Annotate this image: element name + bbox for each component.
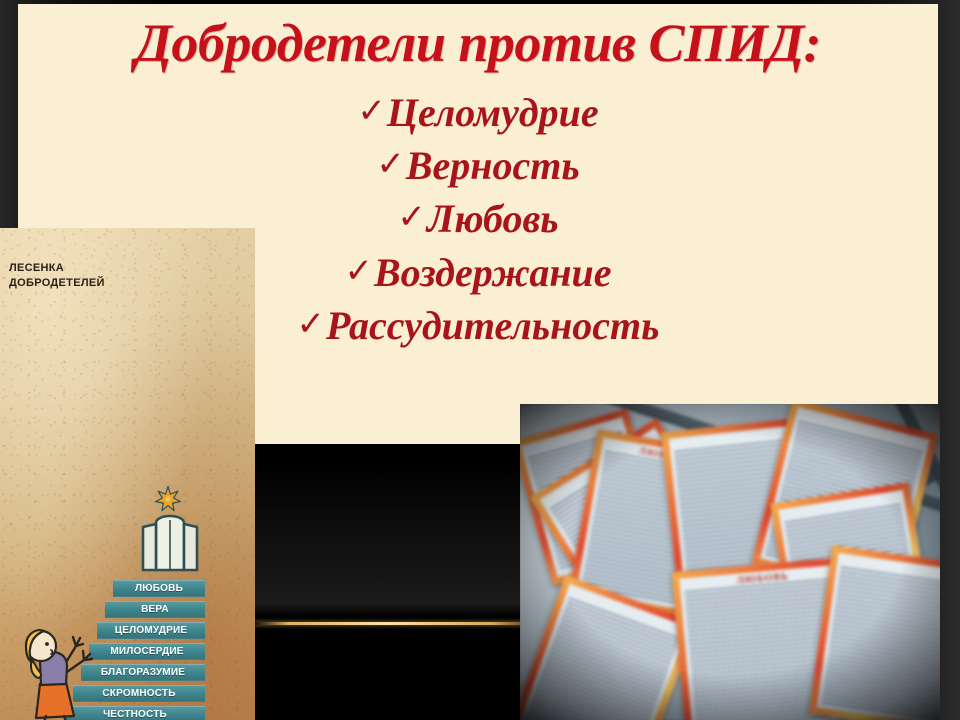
checkmark-icon: ✓ bbox=[376, 146, 405, 183]
ladder-step-label: СКРОМНОСТЬ bbox=[102, 688, 175, 699]
virtue-label: Целомудрие bbox=[387, 90, 599, 135]
list-item: ✓Целомудрие bbox=[18, 86, 938, 139]
checkmark-icon: ✓ bbox=[297, 306, 326, 343]
presentation-slide: Добродетели против СПИД: ✓Целомудрие ✓Ве… bbox=[0, 0, 960, 720]
ladder-step-label: ЛЮБОВЬ bbox=[135, 583, 183, 594]
checkmark-icon: ✓ bbox=[397, 199, 426, 236]
virtue-label: Верность bbox=[406, 143, 580, 188]
checkmark-icon: ✓ bbox=[344, 253, 373, 290]
ladder-step: ЛЮБОВЬ bbox=[113, 580, 205, 597]
virtue-label: Рассудительность bbox=[326, 303, 659, 348]
list-item: ✓Верность bbox=[18, 139, 938, 192]
checkmark-icon: ✓ bbox=[357, 93, 386, 130]
ladder-step-label: ЦЕЛОМУДРИЕ bbox=[115, 625, 187, 636]
ladder-of-virtues-poster: ЛЕСЕНКА ДОБРОДЕТЕЛЕЙ ЛЮБОВЬ ВЕРА ЦЕЛОМУД… bbox=[0, 228, 255, 720]
climbing-girl-illustration bbox=[10, 624, 98, 720]
ladder-step-label: БЛАГОРАЗУМИЕ bbox=[101, 667, 185, 678]
leaflet-border bbox=[809, 545, 940, 720]
ladder-step: МИЛОСЕРДИЕ bbox=[89, 643, 205, 660]
virtue-label: Любовь bbox=[427, 196, 559, 241]
ladder-step-label: ВЕРА bbox=[141, 604, 169, 615]
backdrop-sheen bbox=[250, 460, 550, 720]
virtue-label: Воздержание bbox=[374, 250, 612, 295]
ladder-step-label: ЧЕСТНОСТЬ bbox=[103, 709, 167, 720]
ladder-step: ЦЕЛОМУДРИЕ bbox=[97, 622, 205, 639]
ladder-step-label: МИЛОСЕРДИЕ bbox=[110, 646, 183, 657]
gold-accent-line bbox=[252, 622, 552, 625]
leaflets-photo: ЛЮБОВЬ ЛЮБОВЬ bbox=[520, 404, 940, 720]
slide-title: Добродетели против СПИД: bbox=[18, 16, 938, 70]
ladder-step: ВЕРА bbox=[105, 601, 205, 618]
ladder-step: БЛАГОРАЗУМИЕ bbox=[81, 664, 205, 681]
list-item bbox=[809, 545, 940, 720]
